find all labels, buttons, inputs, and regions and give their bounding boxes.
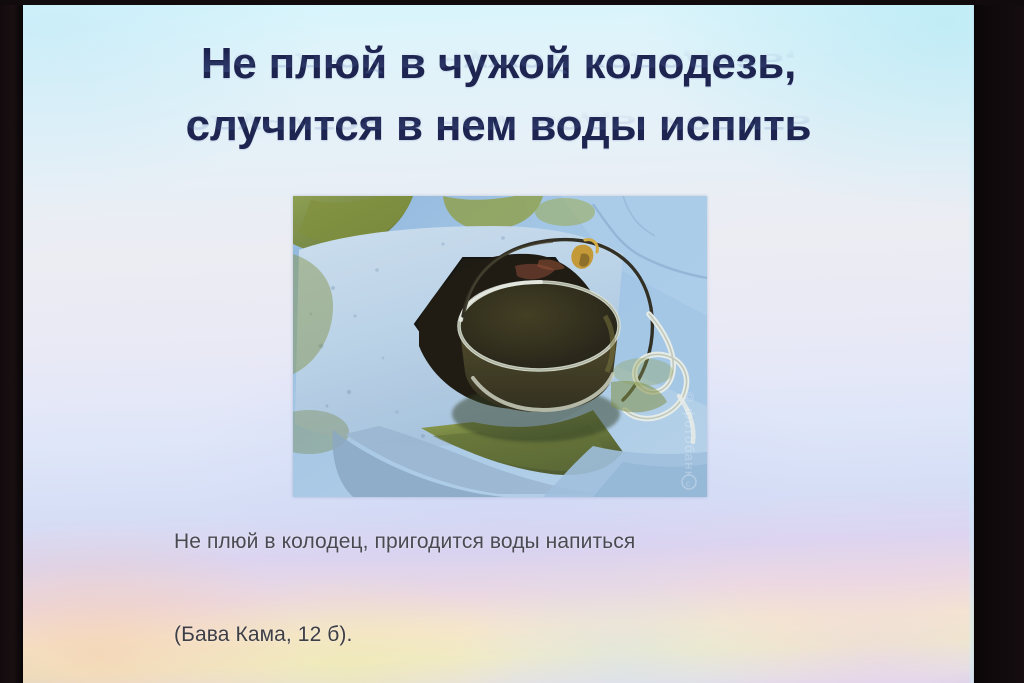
well-photograph: © фотобанк c <box>293 196 707 497</box>
room-dark-left-border <box>0 0 23 683</box>
title-line-1-wrap: Не плюй в чужой колодезь, Не плюй в чужо… <box>22 37 975 99</box>
title-line-1: Не плюй в чужой колодезь, <box>22 37 975 91</box>
slide-caption: Не плюй в колодец, пригодится воды напит… <box>174 530 635 554</box>
well-photograph-illustration: © фотобанк c <box>293 196 707 497</box>
projected-slide-photo: Не плюй в чужой колодезь, Не плюй в чужо… <box>0 0 1024 683</box>
presentation-slide: Не плюй в чужой колодезь, Не плюй в чужо… <box>22 5 975 683</box>
title-line-2-wrap: случится в нем воды испить случится в не… <box>22 99 975 161</box>
room-dark-right-border <box>974 0 1024 683</box>
slide-title: Не плюй в чужой колодезь, Не плюй в чужо… <box>22 37 975 161</box>
title-line-2: случится в нем воды испить <box>22 99 975 153</box>
room-dark-top-border <box>0 0 1024 5</box>
slide-citation: (Бава Кама, 12 б). <box>174 623 352 647</box>
